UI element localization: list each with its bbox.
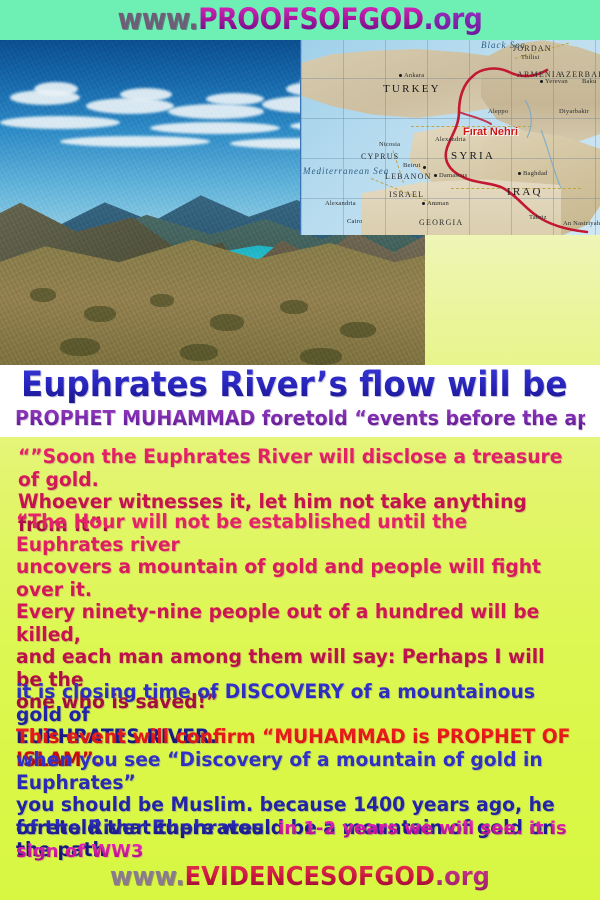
map-city-dot bbox=[399, 74, 402, 77]
footer-site-url[interactable]: www.EVIDENCESOFGOD.org bbox=[21, 862, 579, 892]
euphrates-region-map: Black Sea TURKEY Ankara JORDAN Tbilisi A… bbox=[300, 38, 600, 235]
footer-url-domain: EVIDENCESOFGOD bbox=[185, 862, 435, 892]
map-city-dot bbox=[422, 202, 425, 205]
top-site-url[interactable]: www.PROOFSOFGOD.org bbox=[24, 1, 576, 37]
map-city-dot bbox=[434, 174, 437, 177]
map-city-dot bbox=[518, 172, 521, 175]
map-city-dot bbox=[423, 166, 426, 169]
footer-url-tld: .org bbox=[435, 862, 490, 892]
poster-root: www.PROOFSOFGOD.org bbox=[0, 0, 600, 900]
page-subtitle: PROPHET MUHAMMAD foretold “events before… bbox=[15, 405, 585, 431]
headline-block: Euphrates River’s flow will be stopped P… bbox=[0, 365, 600, 437]
map-city-dot bbox=[540, 80, 543, 83]
closing-tail-main: of the River Euphrates. bbox=[16, 816, 278, 839]
footer-url-www: www. bbox=[110, 862, 185, 892]
top-url-www: www. bbox=[118, 2, 199, 36]
top-url-domain: PROOFSOFGOD bbox=[198, 2, 423, 36]
closing-statement-tail: of the River Euphrates. in 1-2 years we … bbox=[16, 817, 600, 863]
top-url-tld: .org bbox=[424, 2, 483, 36]
page-title: Euphrates River’s flow will be stopped bbox=[21, 365, 579, 405]
euphrates-river-highlight bbox=[429, 66, 599, 235]
